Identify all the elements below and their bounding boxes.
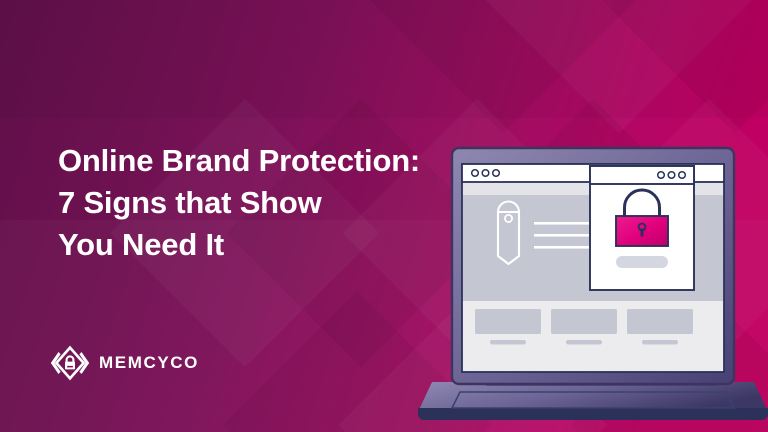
background-wedge-2 bbox=[485, 0, 754, 133]
secure-lock-dialog[interactable] bbox=[590, 166, 694, 290]
laptop-with-secure-popup-illustration bbox=[418, 146, 768, 432]
brand-logo[interactable]: MEMCYCO bbox=[50, 344, 199, 382]
background-wedge-3 bbox=[601, 0, 768, 133]
laptop-base bbox=[418, 382, 768, 420]
dialog-button-placeholder[interactable] bbox=[616, 256, 668, 268]
hero-illustration bbox=[418, 146, 768, 432]
memcyco-diamond-lock-logo-icon bbox=[50, 344, 90, 382]
background-wedge-1 bbox=[369, 0, 638, 133]
card-placeholder-2 bbox=[551, 309, 617, 334]
background-band-top bbox=[0, 0, 768, 118]
banner-canvas: Online Brand Protection: 7 Signs that Sh… bbox=[0, 0, 768, 432]
brand-wordmark: MEMCYCO bbox=[99, 353, 199, 373]
card-placeholder-3 bbox=[627, 309, 693, 334]
card-placeholder-1 bbox=[475, 309, 541, 334]
